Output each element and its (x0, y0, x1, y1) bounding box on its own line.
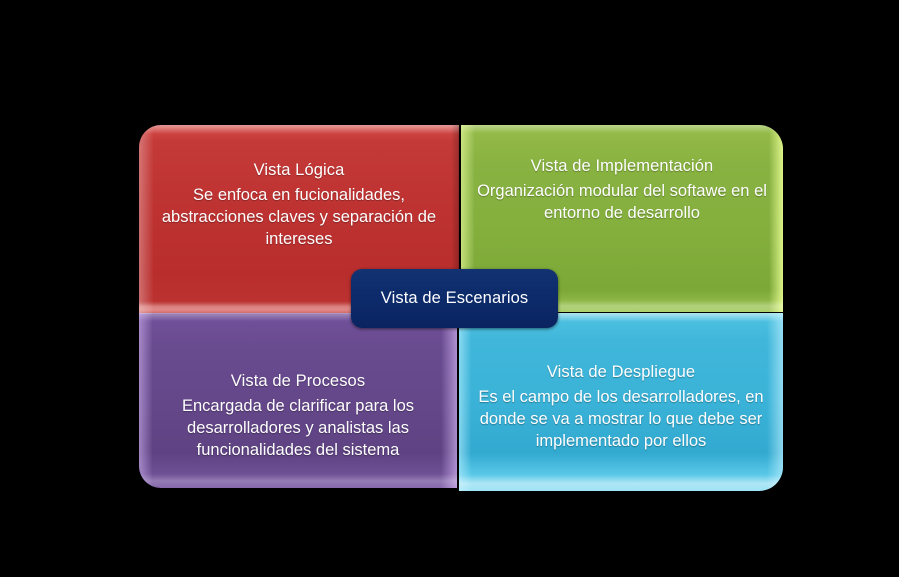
quadrant-description-vista-logica: Se enfoca en fucionalidades, abstraccion… (155, 185, 443, 251)
quadrant-title-vista-logica: Vista Lógica (155, 159, 443, 181)
quadrant-description-vista-implementacion: Organización modular del softawe en el e… (477, 181, 767, 225)
quadrant-vista-despliegue[interactable]: Vista de Despliegue Es el campo de los d… (459, 313, 783, 491)
quadrant-title-vista-procesos: Vista de Procesos (155, 370, 441, 392)
center-node-vista-escenarios[interactable]: Vista de Escenarios (351, 269, 558, 328)
quadrant-vista-procesos[interactable]: Vista de Procesos Encargada de clarifica… (139, 313, 457, 488)
diagram-canvas: Vista Lógica Se enfoca en fucionalidades… (0, 0, 899, 577)
quadrant-content: Vista de Procesos Encargada de clarifica… (139, 370, 457, 462)
bevel-highlight-top (139, 125, 459, 134)
bevel-highlight-bottom (139, 474, 457, 488)
quadrant-title-vista-despliegue: Vista de Despliegue (475, 361, 767, 383)
center-node-label: Vista de Escenarios (381, 289, 528, 309)
bevel-highlight-top (461, 125, 783, 133)
quadrant-title-vista-implementacion: Vista de Implementación (477, 155, 767, 177)
quadrant-description-vista-despliegue: Es el campo de los desarrolladores, en d… (475, 387, 767, 453)
quadrant-content: Vista de Despliegue Es el campo de los d… (459, 361, 783, 453)
quadrant-content: Vista de Implementación Organización mod… (461, 155, 783, 225)
quadrant-content: Vista Lógica Se enfoca en fucionalidades… (139, 159, 459, 251)
quadrant-description-vista-procesos: Encargada de clarificar para los desarro… (155, 396, 441, 462)
bevel-highlight-bottom (459, 475, 783, 491)
